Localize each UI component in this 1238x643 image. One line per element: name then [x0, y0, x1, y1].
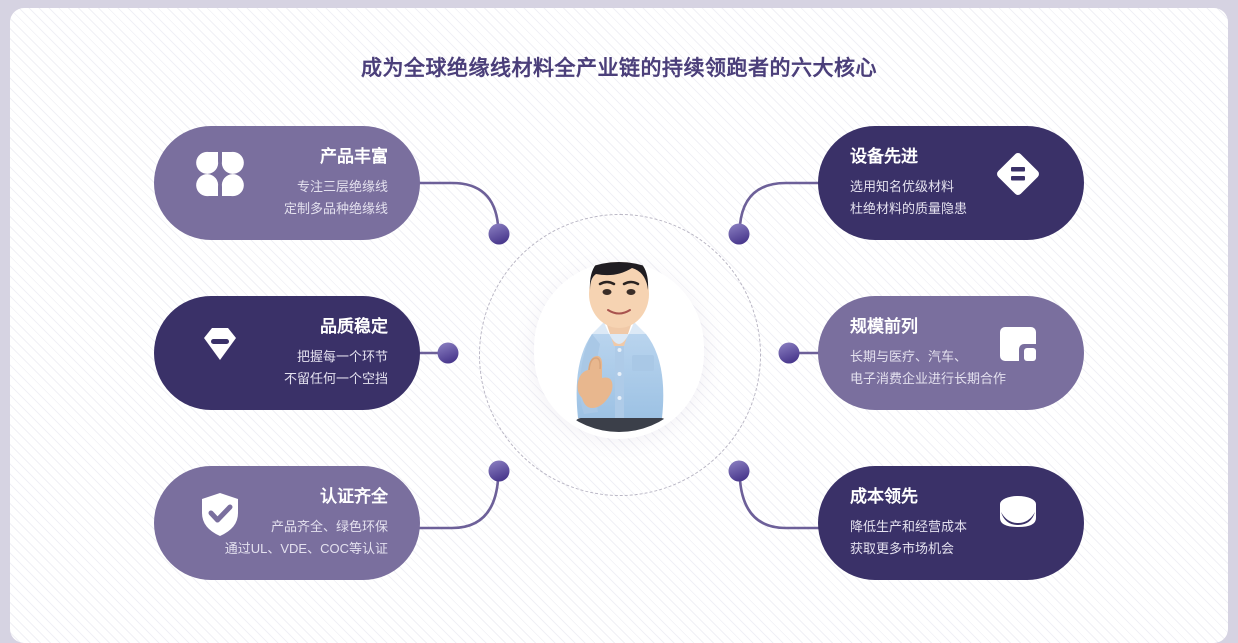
card-text: 规模前列 长期与医疗、汽车、 电子消费企业进行长期合作 [850, 316, 1006, 390]
gem-minus-icon [194, 318, 246, 370]
card-text: 成本领先 降低生产和经营成本 获取更多市场机会 [850, 486, 967, 560]
card-title: 设备先进 [850, 146, 967, 168]
feature-card-quality-stable[interactable]: 品质稳定 把握每一个环节 不留任何一个空挡 [154, 296, 420, 410]
card-line-1: 产品齐全、绿色环保 [225, 516, 388, 538]
card-line-1: 把握每一个环节 [284, 346, 388, 368]
feature-card-equipment-advanced[interactable]: 设备先进 选用知名优级材料 杜绝材料的质量隐患 [818, 126, 1084, 240]
card-line-2: 定制多品种绝缘线 [284, 198, 388, 220]
card-line-2: 通过UL、VDE、COC等认证 [225, 538, 388, 560]
card-text: 认证齐全 产品齐全、绿色环保 通过UL、VDE、COC等认证 [225, 486, 388, 560]
database-stack-icon [992, 488, 1044, 540]
feature-card-cost-leading[interactable]: 成本领先 降低生产和经营成本 获取更多市场机会 [818, 466, 1084, 580]
feature-card-certification-complete[interactable]: 认证齐全 产品齐全、绿色环保 通过UL、VDE、COC等认证 [154, 466, 420, 580]
card-line-2: 获取更多市场机会 [850, 538, 967, 560]
card-title: 规模前列 [850, 316, 1006, 338]
feature-card-scale-leading[interactable]: 规模前列 长期与医疗、汽车、 电子消费企业进行长期合作 [818, 296, 1084, 410]
card-line-1: 降低生产和经营成本 [850, 516, 967, 538]
card-line-2: 不留任何一个空挡 [284, 368, 388, 390]
card-title: 认证齐全 [225, 486, 388, 508]
card-title: 产品丰富 [284, 146, 388, 168]
card-text: 产品丰富 专注三层绝缘线 定制多品种绝缘线 [284, 146, 388, 220]
hero-person-photo [520, 222, 718, 444]
diamond-equals-icon [992, 148, 1044, 200]
page-title: 成为全球绝缘线材料全产业链的持续领跑者的六大核心 [0, 52, 1238, 82]
card-text: 设备先进 选用知名优级材料 杜绝材料的质量隐患 [850, 146, 967, 220]
card-text: 品质稳定 把握每一个环节 不留任何一个空挡 [284, 316, 388, 390]
card-line-2: 电子消费企业进行长期合作 [850, 368, 1006, 390]
four-petal-flower-icon [194, 148, 246, 200]
card-line-1: 选用知名优级材料 [850, 176, 967, 198]
card-line-1: 专注三层绝缘线 [284, 176, 388, 198]
card-line-2: 杜绝材料的质量隐患 [850, 198, 967, 220]
feature-card-product-rich[interactable]: 产品丰富 专注三层绝缘线 定制多品种绝缘线 [154, 126, 420, 240]
card-line-1: 长期与医疗、汽车、 [850, 346, 1006, 368]
card-title: 成本领先 [850, 486, 967, 508]
card-title: 品质稳定 [284, 316, 388, 338]
infographic-stage: 成为全球绝缘线材料全产业链的持续领跑者的六大核心 [0, 0, 1238, 643]
